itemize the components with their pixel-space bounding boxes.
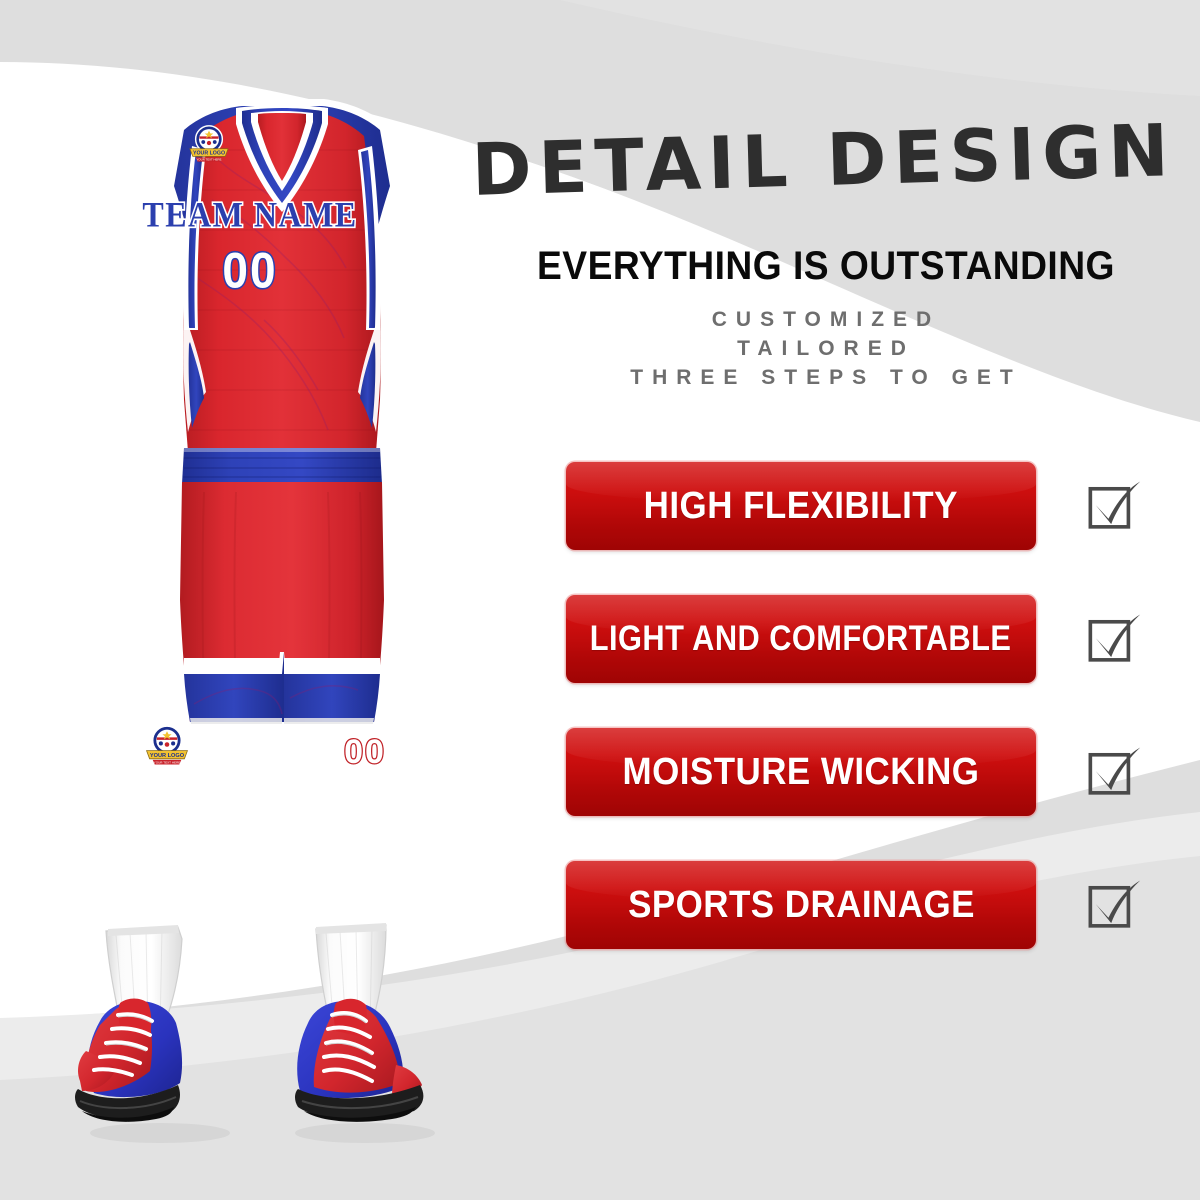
basketball-shoes [60, 905, 480, 1155]
checkbox-checked-glyph [1084, 610, 1142, 668]
headline-title-svg: DETAIL DESIGN [470, 113, 1178, 208]
feature-bar-light-and-comfortable[interactable]: LIGHT AND COMFORTABLE [566, 595, 1036, 683]
product-detail-poster: TEAM NAME 00 00 YOUR LOGO YOUR TEXT HERE [0, 0, 1200, 1200]
headline-title: DETAIL DESIGN [471, 108, 1177, 212]
shorts-blue-band-right [284, 674, 380, 722]
shoe-left [75, 925, 182, 1122]
shoe-right [295, 923, 423, 1122]
headline-title-wrap: DETAIL DESIGN [470, 113, 1178, 208]
waistband-highlight [184, 448, 380, 452]
feature-row: LIGHT AND COMFORTABLE [566, 595, 1186, 683]
shoe-shadow-left [90, 1123, 230, 1143]
feature-label: HIGH FLEXIBILITY [644, 485, 958, 528]
feature-label: MOISTURE WICKING [623, 751, 980, 794]
feature-row: HIGH FLEXIBILITY [566, 462, 1186, 550]
feature-label: SPORTS DRAINAGE [628, 884, 975, 927]
feature-list: HIGH FLEXIBILITY LIGHT AND COMFORTABLE [566, 462, 1186, 994]
shorts-hem [190, 718, 374, 724]
tagline-group: CUSTOMIZED TAILORED THREE STEPS TO GET [470, 305, 1182, 392]
shoes-illustration [60, 905, 480, 1155]
tagline-2: TAILORED [470, 334, 1182, 363]
uniform-kit [132, 80, 432, 800]
feature-row: SPORTS DRAINAGE [566, 861, 1186, 949]
checkbox-checked-icon[interactable] [1084, 610, 1142, 668]
shoe-shadow-right [295, 1123, 435, 1143]
checkbox-checked-glyph [1084, 477, 1142, 535]
shorts-white-stripe [184, 658, 380, 674]
feature-bar-sports-drainage[interactable]: SPORTS DRAINAGE [566, 861, 1036, 949]
tagline-1: CUSTOMIZED [470, 305, 1182, 334]
marketing-copy: DETAIL DESIGN EVERYTHING IS OUTSTANDING … [470, 0, 1200, 1200]
feature-row: MOISTURE WICKING [566, 728, 1186, 816]
feature-bar-high-flexibility[interactable]: HIGH FLEXIBILITY [566, 462, 1036, 550]
checkbox-checked-icon[interactable] [1084, 876, 1142, 934]
checkbox-checked-icon[interactable] [1084, 477, 1142, 535]
checkbox-checked-icon[interactable] [1084, 743, 1142, 801]
headline-subtitle: EVERYTHING IS OUTSTANDING [495, 244, 1157, 289]
product-showcase: TEAM NAME 00 00 YOUR LOGO YOUR TEXT HERE [0, 0, 500, 1200]
tagline-3: THREE STEPS TO GET [470, 363, 1182, 392]
checkbox-checked-glyph [1084, 876, 1142, 934]
uniform-illustration [132, 80, 432, 800]
feature-bar-moisture-wicking[interactable]: MOISTURE WICKING [566, 728, 1036, 816]
feature-label: LIGHT AND COMFORTABLE [590, 619, 1012, 659]
checkbox-checked-glyph [1084, 743, 1142, 801]
waistband [182, 448, 382, 484]
